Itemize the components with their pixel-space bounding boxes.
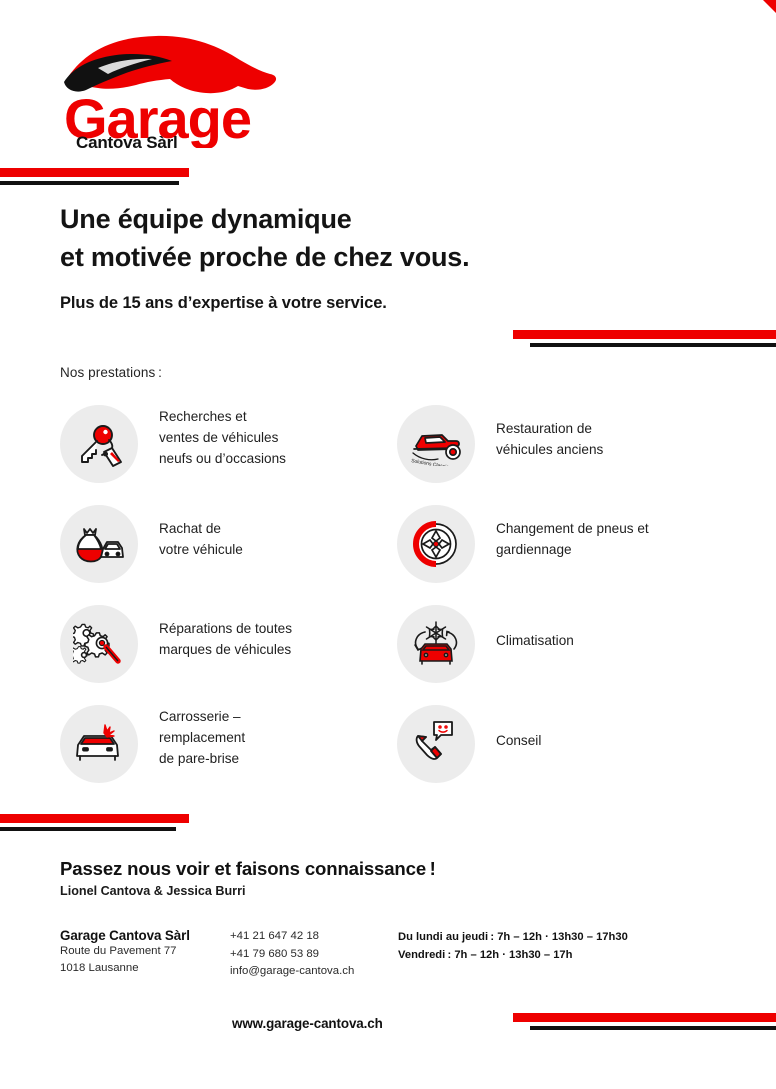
rule-red-bar: [0, 814, 189, 823]
service-label: Climatisation: [496, 605, 574, 652]
rule-mid-right: [513, 330, 776, 347]
headline-text: Une équipe dynamique et motivée proche d…: [60, 200, 580, 277]
rule-black-bar: [530, 343, 776, 347]
service-item: Réparations de toutes marques de véhicul…: [60, 605, 397, 705]
service-item: Recherches et ventes de véhicules neufs …: [60, 405, 397, 505]
service-text: Conseil: [496, 733, 541, 748]
service-item: Conseil: [397, 705, 720, 805]
phone-speech-bubble-icon: [397, 705, 475, 783]
street-address: Route du Pavement 77: [60, 943, 230, 960]
website-url[interactable]: www.garage-cantova.ch: [232, 1016, 383, 1031]
rule-black-bar: [0, 181, 179, 185]
company-name: Garage Cantova Sàrl: [60, 928, 230, 943]
hours-friday: Vendredi : 7h – 12h · 13h30 – 17h: [398, 946, 758, 964]
service-text: Carrosserie – remplacement de pare-brise: [159, 709, 245, 766]
headline-block: Une équipe dynamique et motivée proche d…: [60, 200, 580, 313]
services-grid: Recherches et ventes de véhicules neufs …: [60, 405, 720, 805]
service-item: Rachat de votre véhicule: [60, 505, 397, 605]
headline-line-2: et motivée proche de chez vous.: [60, 242, 469, 272]
gears-magnifier-icon: [60, 605, 138, 683]
rule-red-bar: [0, 168, 189, 177]
headline-subline: Plus de 15 ans d’expertise à votre servi…: [60, 294, 580, 313]
service-text: Rachat de votre véhicule: [159, 521, 243, 557]
service-item: Carrosserie – remplacement de pare-brise: [60, 705, 397, 805]
cracked-windshield-car-icon: [60, 705, 138, 783]
phone-secondary[interactable]: +41 79 680 53 89: [230, 946, 398, 964]
city-address: 1018 Lausanne: [60, 960, 230, 977]
headline-line-1: Une équipe dynamique: [60, 204, 352, 234]
service-text: Restauration de véhicules anciens: [496, 421, 603, 457]
service-label: Conseil: [496, 705, 541, 752]
service-item: Changement de pneus et gardiennage: [397, 505, 720, 605]
rule-top-left: [0, 168, 190, 185]
contact-block: Garage Cantova Sàrl Route du Pavement 77…: [60, 928, 760, 981]
key-with-tag-icon: [60, 405, 138, 483]
tire-wheel-icon: [397, 505, 475, 583]
rule-red-bar: [513, 330, 776, 339]
money-bag-car-icon: [60, 505, 138, 583]
closing-block: Passez nous voir et faisons connaissance…: [60, 858, 620, 898]
hours-weekday: Du lundi au jeudi : 7h – 12h · 13h30 – 1…: [398, 928, 758, 946]
service-item: Solutions Classic Restauration de véhicu…: [397, 405, 720, 505]
hours-column: Du lundi au jeudi : 7h – 12h · 13h30 – 1…: [398, 928, 758, 981]
closing-names: Lionel Cantova & Jessica Burri: [60, 884, 620, 898]
rule-footer-right: [513, 1013, 776, 1030]
rule-bottom-left: [0, 814, 192, 831]
service-text: Recherches et ventes de véhicules neufs …: [159, 409, 286, 466]
service-label: Rachat de votre véhicule: [159, 505, 243, 561]
service-label: Restauration de véhicules anciens: [496, 405, 603, 461]
service-label: Carrosserie – remplacement de pare-brise: [159, 705, 245, 769]
phone-primary[interactable]: +41 21 647 42 18: [230, 928, 398, 946]
service-text: Climatisation: [496, 633, 574, 648]
service-text: Réparations de toutes marques de véhicul…: [159, 621, 292, 657]
closing-headline: Passez nous voir et faisons connaissance…: [60, 858, 620, 880]
snowflake-car-icon: [397, 605, 475, 683]
service-item: Climatisation: [397, 605, 720, 705]
email-address[interactable]: info@garage-cantova.ch: [230, 963, 398, 981]
vintage-car-icon: Solutions Classic: [397, 405, 475, 483]
service-label: Réparations de toutes marques de véhicul…: [159, 605, 292, 661]
service-label: Changement de pneus et gardiennage: [496, 505, 649, 561]
service-label: Recherches et ventes de véhicules neufs …: [159, 405, 286, 469]
logo-subtitle: Cantova Sàrl: [76, 133, 178, 153]
rule-black-bar: [530, 1026, 776, 1030]
logo: Garage Cantova Sàrl: [62, 30, 312, 145]
address-column: Garage Cantova Sàrl Route du Pavement 77…: [60, 928, 230, 981]
services-label: Nos prestations :: [60, 365, 162, 380]
rule-black-bar: [0, 827, 176, 831]
service-text: Changement de pneus et gardiennage: [496, 521, 649, 557]
phone-column: +41 21 647 42 18 +41 79 680 53 89 info@g…: [230, 928, 398, 981]
rule-red-bar: [513, 1013, 776, 1022]
